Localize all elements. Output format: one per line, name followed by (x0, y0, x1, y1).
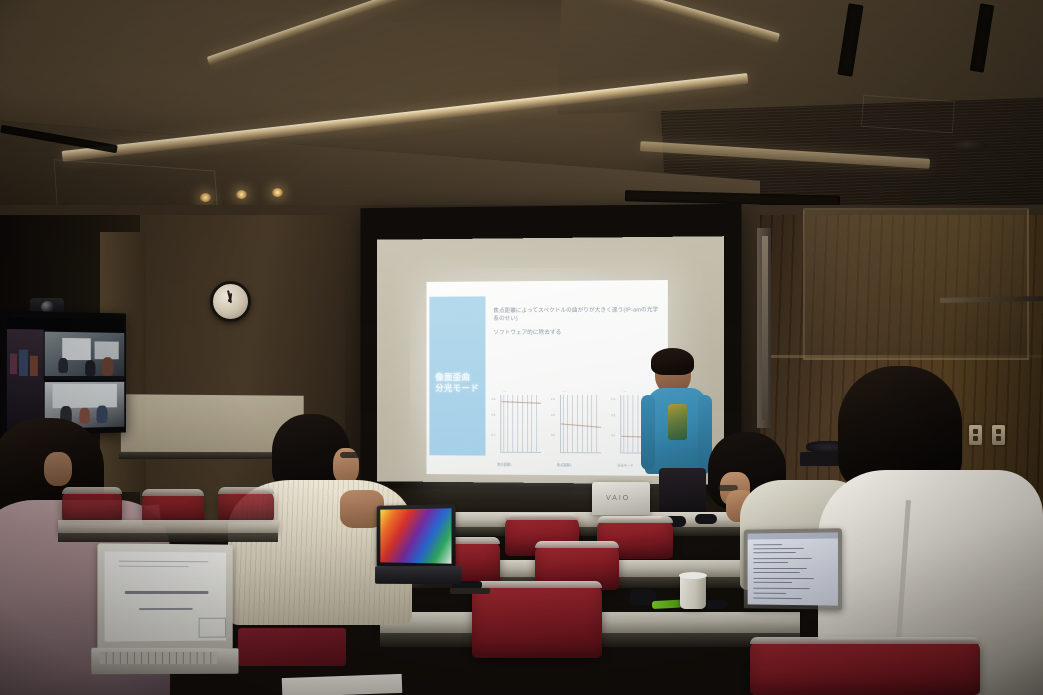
coffee-cup (680, 575, 706, 609)
chair-bg-1 (62, 490, 122, 523)
chair-front-right (750, 640, 980, 695)
wall-outlet-1 (969, 425, 982, 445)
projected-slide: 像面歪曲 分光モード 焦点距離によってスペクトルの曲がりが大きく違う(IP-am… (427, 280, 668, 476)
ceiling-downlight-3 (272, 188, 283, 197)
ceiling-speaker-dome (953, 140, 987, 152)
slide-sidebar-line2: 分光モード (435, 383, 486, 394)
seminar-room-photo: 像面歪曲 分光モード 焦点距離によってスペクトルの曲がりが大きく違う(IP-am… (0, 0, 1043, 695)
presenter-hair (651, 348, 694, 375)
document-laptop-keyboard (91, 648, 238, 674)
glasses-icon-mid-left (340, 452, 360, 458)
door-glass (762, 236, 768, 420)
vaio-laptop: VAIO (592, 482, 650, 515)
slide-bullet-2: ソフトウェア的に除去する (493, 329, 659, 338)
clock-center-pin (228, 299, 231, 302)
wall-recessed-panel (803, 208, 1029, 360)
editor-laptop-screen (748, 532, 838, 605)
vc-pane-top-right (45, 332, 125, 380)
coffee-cup-rim (679, 572, 707, 579)
chart-2-title: 焦点距離2 (557, 462, 572, 467)
chart-3-title: 分光モード (617, 462, 633, 467)
document-laptop (97, 543, 232, 649)
ceiling-downlight-2 (236, 190, 247, 199)
slide-chart-2: — 1.0 0.5 0.0 焦点距離2 (551, 389, 603, 467)
rainbow-laptop-base (375, 566, 462, 585)
slide-charts: — 1.0 0.5 0.0 焦点距離1 — 1.0 0.5 0.0 (491, 389, 663, 468)
wall-clock (210, 281, 251, 322)
rainbow-laptop-screen (380, 508, 451, 563)
chart-1-plot (500, 395, 541, 453)
small-cable (706, 600, 728, 609)
slide-bullet-1: 焦点距離によってスペクトルの曲がりが大きく違う(IP-amの光学系のせい) (493, 306, 659, 323)
chart-2-plot (560, 395, 601, 453)
document-laptop-screen (105, 551, 226, 641)
ceiling-downlight-1 (200, 193, 211, 202)
slide-sidebar: 像面歪曲 分光モード (429, 296, 485, 455)
desk-bg-left-edge (58, 533, 278, 542)
slide-bullets: 焦点距離によってスペクトルの曲がりが大きく違う(IP-amの光学系のせい) ソフ… (493, 306, 659, 343)
presenter-arm-left (641, 395, 655, 470)
chair-bg-3 (218, 490, 274, 522)
chart-1-title: 焦点距離1 (497, 462, 511, 467)
slide-chart-1: — 1.0 0.5 0.0 焦点距離1 (491, 389, 543, 467)
chair-r1-center (472, 584, 602, 658)
handout-paper (282, 674, 403, 695)
desk-bg-left (58, 520, 278, 534)
rainbow-laptop (377, 504, 456, 568)
vc-pane-left (7, 329, 44, 429)
videoconference-screen (7, 317, 124, 430)
wall-outlet-2 (992, 425, 1005, 445)
red-folder (238, 628, 346, 666)
wainscot-divider (760, 355, 1043, 358)
ceiling-access-panel-2 (861, 95, 955, 133)
cable-coil (695, 514, 717, 524)
editor-laptop (744, 528, 842, 610)
slide-sidebar-text: 像面歪曲 分光モード (435, 372, 486, 394)
presenter-shirt-graphic (668, 404, 687, 440)
ceiling-panel-right (557, 0, 1043, 115)
slide-sidebar-line1: 像面歪曲 (435, 372, 486, 383)
pen-case (450, 588, 490, 594)
ceiling (0, 0, 1043, 235)
attendee-front-left-ear (44, 452, 72, 486)
